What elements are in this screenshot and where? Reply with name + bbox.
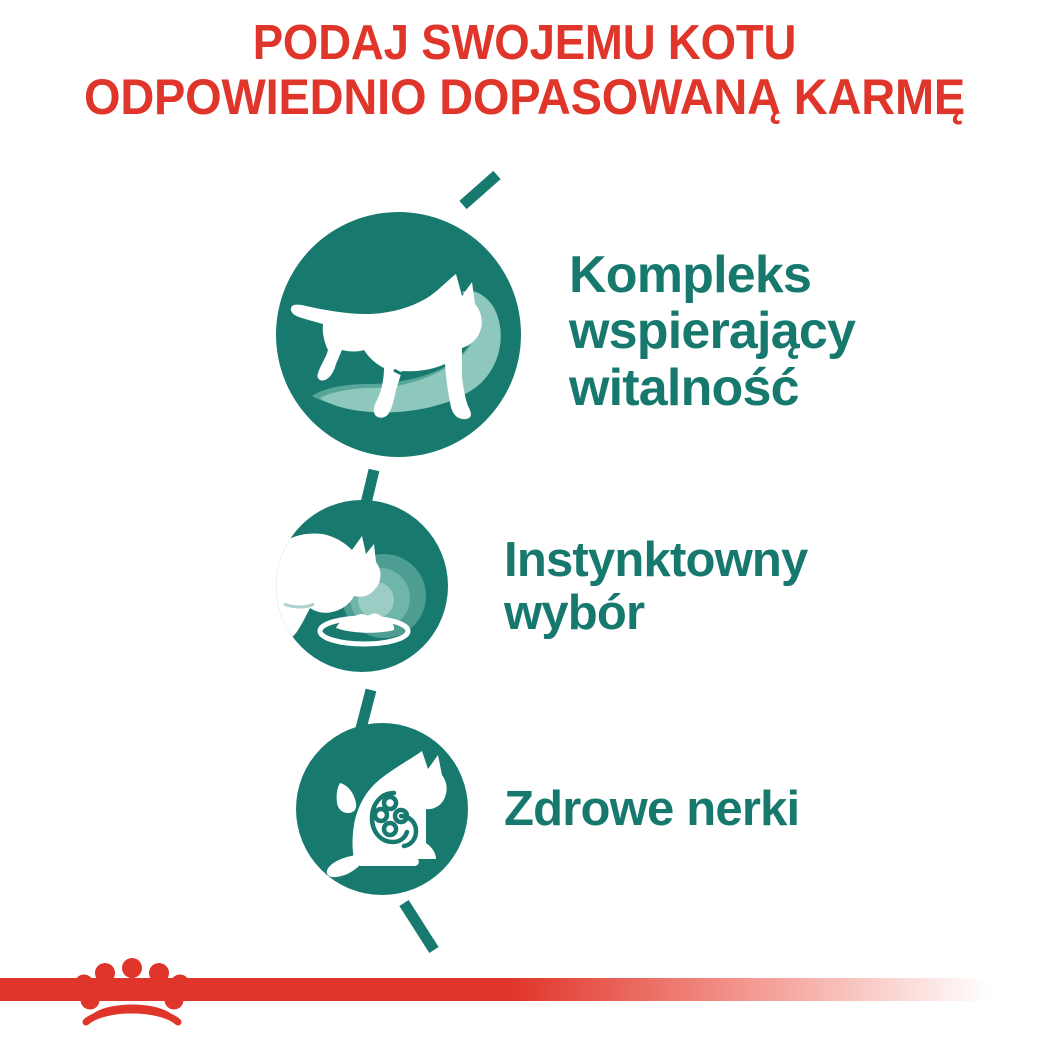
footer bbox=[0, 939, 1049, 1049]
royal-canin-crown-icon bbox=[72, 956, 192, 1026]
walking-cat-icon bbox=[276, 212, 521, 457]
headline-line-2: ODPOWIEDNIO DOPASOWANĄ KARMĘ bbox=[37, 70, 1013, 124]
benefit-item-kidneys[interactable]: Zdrowe nerki bbox=[296, 723, 799, 895]
cat-kidney-health-icon bbox=[296, 723, 468, 895]
benefit-item-vitality[interactable]: Kompleks wspierający witalność bbox=[276, 212, 855, 457]
benefit-label-kidneys: Zdrowe nerki bbox=[504, 783, 799, 836]
headline-line-1: PODAJ SWOJEMU KOTU bbox=[37, 18, 1013, 70]
benefit-label-instinct: Instynktowny wybór bbox=[504, 534, 808, 640]
benefit-item-instinct[interactable]: Instynktowny wybór bbox=[276, 500, 808, 672]
promo-banner: PODAJ SWOJEMU KOTU ODPOWIEDNIO DOPASOWAN… bbox=[0, 0, 1049, 1049]
benefit-label-vitality: Kompleks wspierający witalność bbox=[569, 247, 855, 415]
benefit-list: Kompleks wspierający witalność Insty bbox=[0, 155, 1049, 945]
page-title: PODAJ SWOJEMU KOTU ODPOWIEDNIO DOPASOWAN… bbox=[37, 18, 1013, 123]
footer-bar-right bbox=[190, 978, 990, 1001]
cat-eating-from-bowl-icon bbox=[276, 500, 448, 672]
